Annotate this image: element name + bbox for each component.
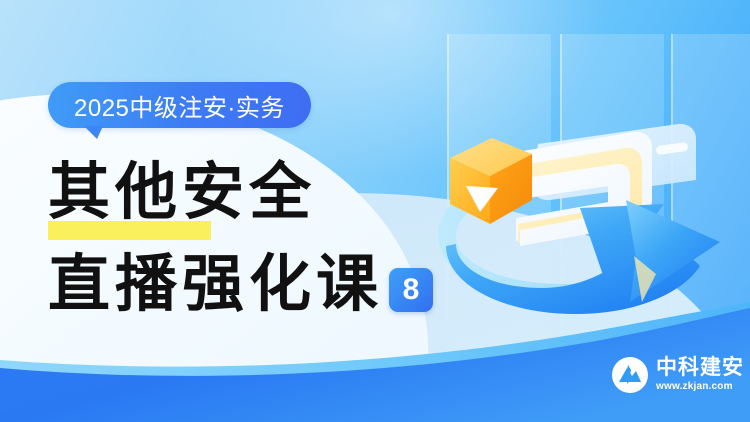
brand-logo-text: 中科建安 www.zkjan.com: [656, 357, 744, 392]
brand-website-url: www.zkjan.com: [656, 380, 744, 393]
content-layer: 2025中级注安·实务 其他安全 直播强化课 8 中科建安 www.zkjan.…: [0, 0, 750, 422]
brand-name-cn: 中科建安: [656, 357, 744, 379]
course-banner: 2025中级注安·实务 其他安全 直播强化课 8 中科建安 www.zkjan.…: [0, 0, 750, 422]
pill-tail-pointer: [84, 126, 103, 139]
course-tag-label: 2025中级注安·实务: [74, 88, 285, 123]
zk-mountain-icon: [612, 357, 648, 393]
page-title-line-2: 直播强化课: [48, 253, 383, 315]
page-title-line-1: 其他安全: [48, 161, 316, 223]
episode-number-value: 8: [403, 275, 420, 305]
course-tag-pill: 2025中级注安·实务: [48, 82, 311, 128]
episode-number-badge: 8: [389, 268, 433, 312]
brand-logo[interactable]: 中科建安 www.zkjan.com: [612, 357, 744, 393]
